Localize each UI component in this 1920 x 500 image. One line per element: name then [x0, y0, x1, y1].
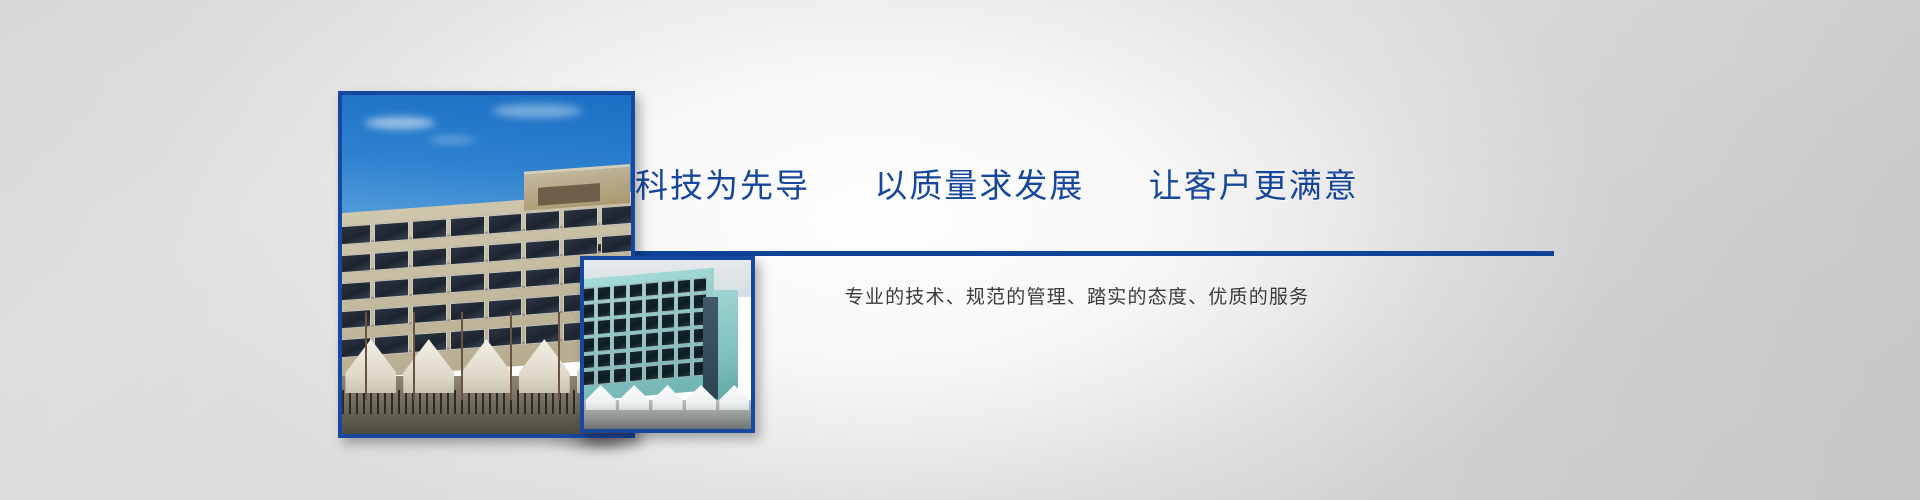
tent-row: [584, 385, 751, 410]
cloud-icon: [429, 136, 475, 144]
banner-headline: 以科技为先导 以质量求发展 让客户更满意: [600, 165, 1560, 206]
headline-segment-2: 以质量求发展: [874, 165, 1084, 206]
cloud-icon: [365, 117, 435, 129]
building-facade: [580, 268, 714, 402]
photo-office-building-teal[interactable]: [580, 256, 755, 433]
glass-curtain-wall: [703, 297, 718, 398]
window-grid: [581, 277, 707, 387]
cloud-icon: [492, 104, 582, 118]
photo-secondary-scene: [584, 260, 751, 429]
promo-banner: 以科技为先导 以质量求发展 让客户更满意 专业的技术、规范的管理、踏实的态度、优…: [0, 0, 1920, 500]
headline-segment-3: 让客户更满意: [1149, 165, 1359, 206]
